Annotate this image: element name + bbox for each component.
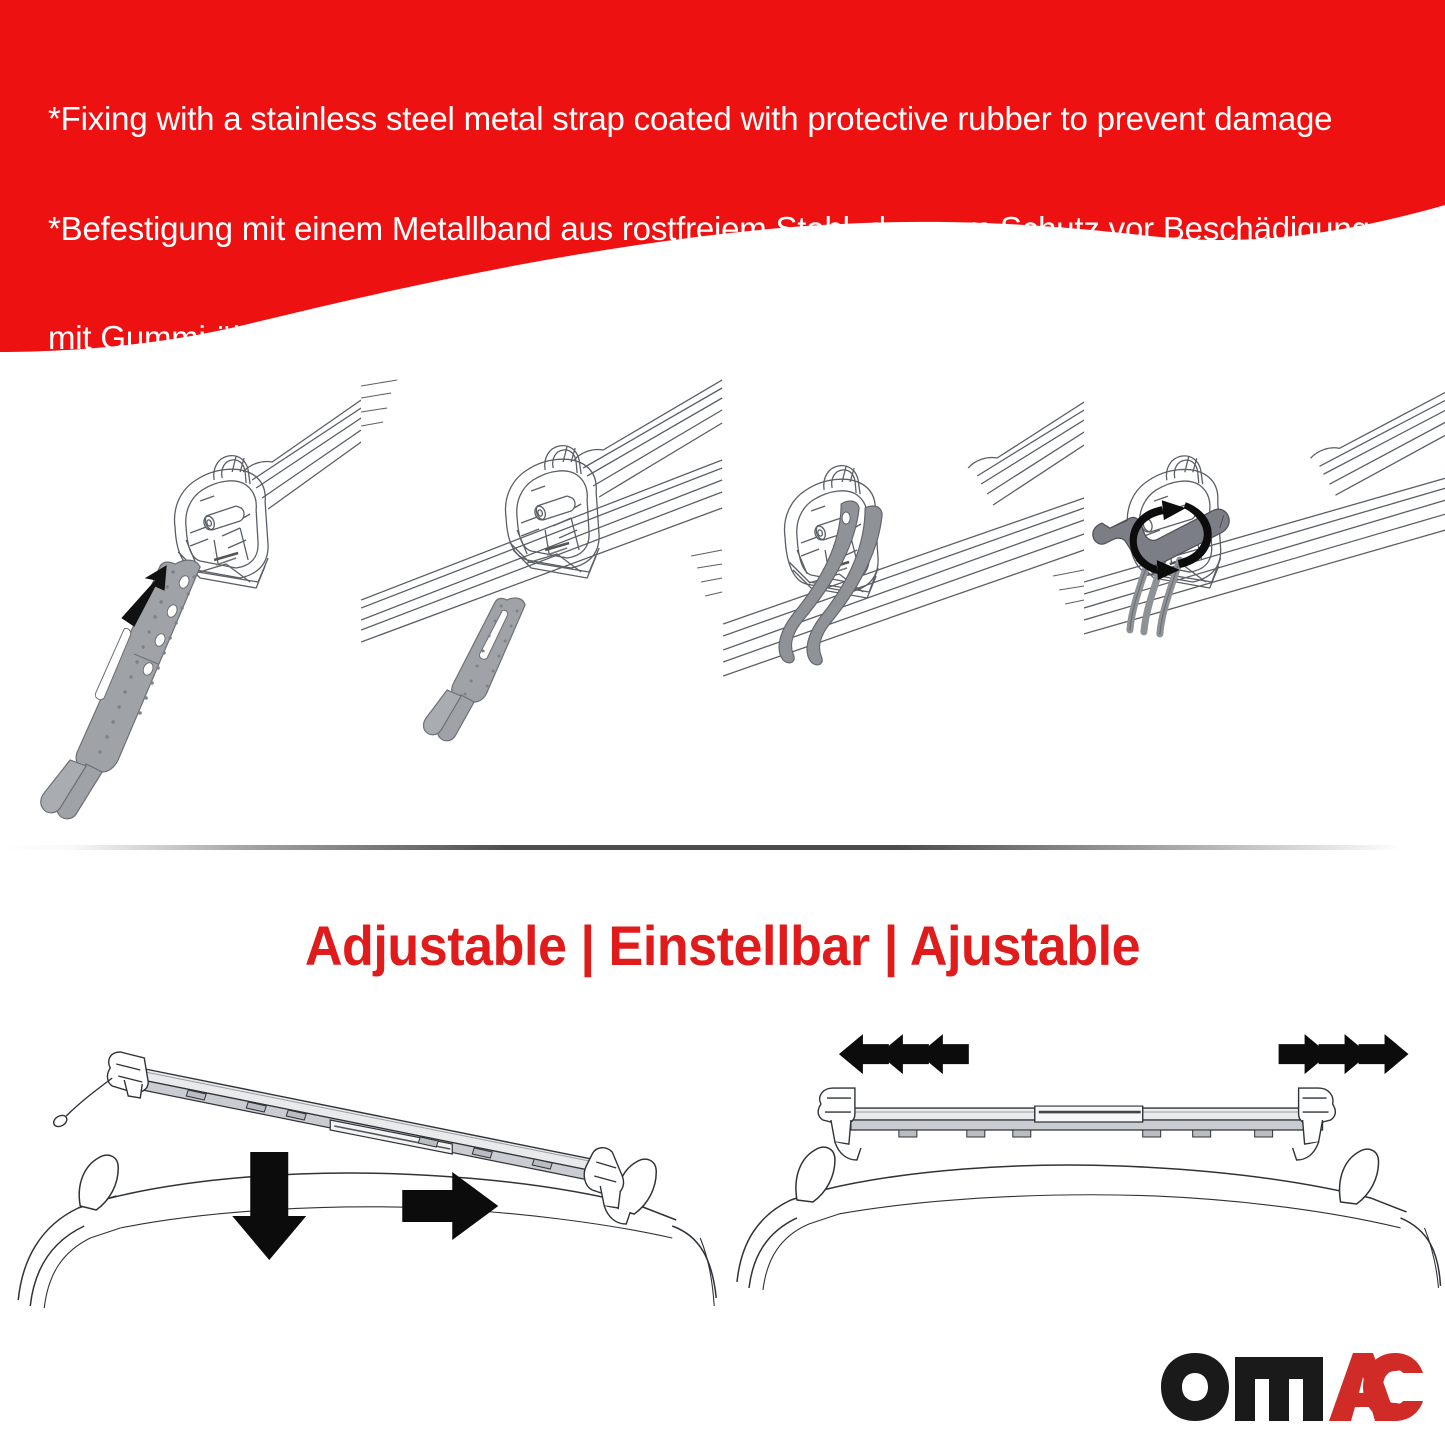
step-insert-strap xyxy=(0,368,361,828)
section-divider xyxy=(0,845,1445,850)
logo-letter-m xyxy=(1235,1357,1323,1421)
logo-letter-c xyxy=(1363,1353,1423,1421)
down-arrow-icon xyxy=(232,1152,306,1260)
section-headline: Adjustable | Einstellbar | Ajustable xyxy=(51,913,1395,978)
step-tighten-allen-key xyxy=(1084,368,1445,828)
triple-left-arrow-icon xyxy=(838,1034,968,1074)
rubber-strap xyxy=(424,598,526,741)
banner-line-1: *Fixing with a stainless steel metal str… xyxy=(48,101,1428,138)
banner-line-2: *Befestigung mit einem Metallband aus ro… xyxy=(48,211,1428,248)
omac-logo-mark xyxy=(1157,1345,1427,1425)
omac-logo xyxy=(1157,1345,1427,1425)
header-banner: *Fixing with a stainless steel metal str… xyxy=(0,0,1445,360)
step-position-foot xyxy=(361,368,722,828)
diagram-mount-crossbar xyxy=(0,1020,723,1320)
logo-letter-o xyxy=(1161,1353,1229,1421)
right-arrow-icon xyxy=(402,1172,498,1240)
rubber-strap xyxy=(41,560,200,819)
installation-steps xyxy=(0,368,1445,828)
step-wrap-strap xyxy=(723,368,1084,828)
triple-right-arrow-icon xyxy=(1278,1034,1408,1074)
adjustable-diagrams xyxy=(0,1020,1445,1320)
rubber-strap xyxy=(779,501,882,665)
banner-line-3: mit Gummi überzogen ist xyxy=(48,320,1428,357)
diagram-adjust-width xyxy=(723,1020,1445,1320)
